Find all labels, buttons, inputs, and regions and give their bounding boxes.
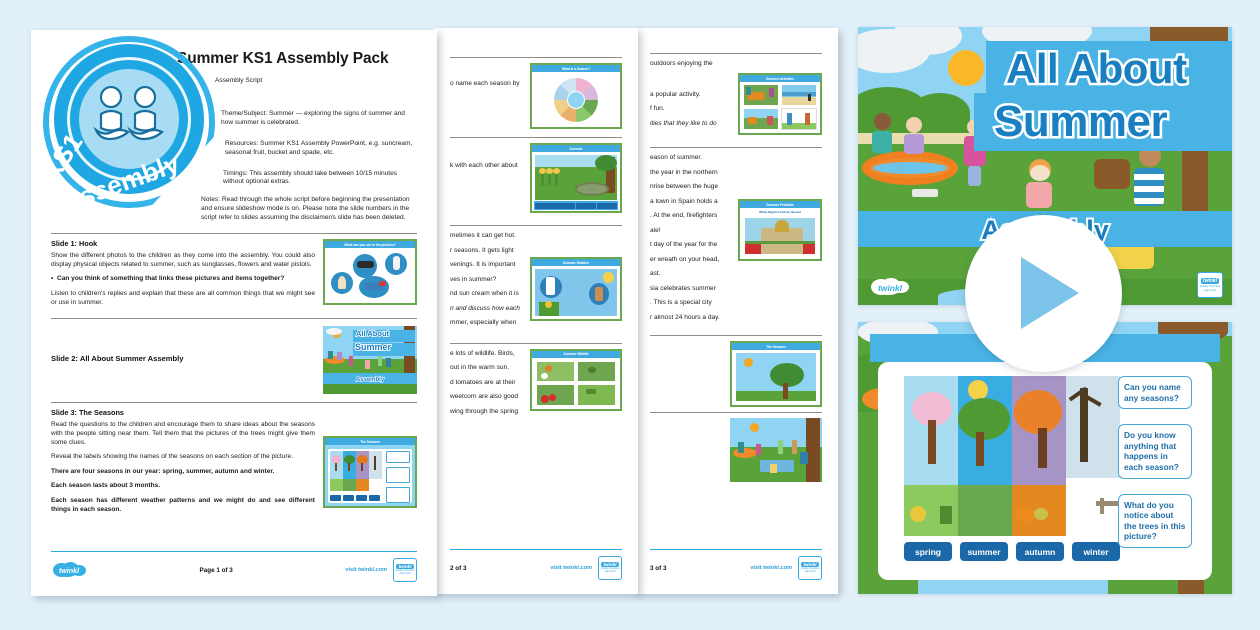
visit-link[interactable]: visit twinkl.com <box>750 565 792 571</box>
page1-footer: twinkl Page 1 of 3 visit twinkl.com twin… <box>51 551 417 582</box>
divider <box>450 57 622 58</box>
thumb-title-line2: Summer <box>355 342 391 352</box>
page2-section-summer: k with each other about Summer <box>450 143 622 213</box>
page2-section-wildlife: e lots of wildlife. Birds, out in the wa… <box>450 349 622 422</box>
text-fragment: ast. <box>650 269 730 278</box>
text-fragment: ities that they like to do <box>650 119 730 128</box>
slide-paragraph: Listen to children's replies and explain… <box>51 289 315 307</box>
text-fragment: r seasons. It gets light <box>450 246 522 255</box>
badge-label: KS1 Assembly <box>39 76 219 206</box>
text-fragment: outdoors enjoying the <box>650 59 730 68</box>
text-fragment: out in the warm sun. <box>450 363 522 372</box>
twinkl-logo-text: twinkl <box>869 278 911 297</box>
twinkl-logo[interactable]: twinkl <box>869 278 911 297</box>
page2-text-col2: k with each other about <box>450 143 522 176</box>
season-buttons-row: spring summer autumn winter <box>904 542 1120 561</box>
slide-heading: Slide 1: Hook <box>51 239 315 248</box>
text-fragment: t day of the year for the <box>650 240 730 249</box>
season-column-winter <box>1066 376 1120 536</box>
text-fragment: k with each other about <box>450 161 522 170</box>
slide-thumbnail-seasons[interactable]: The Seasons <box>323 436 417 508</box>
text-fragment: ale! <box>650 226 730 235</box>
thumbnail-caption: The Seasons <box>325 438 415 445</box>
sun-icon <box>948 50 984 86</box>
festival-label: White Nights Festival, Russia <box>743 210 817 214</box>
text-fragment: weetcorn are also good <box>450 392 522 401</box>
page-number: 2 of 3 <box>450 565 466 572</box>
text-fragment: n and discuss how each <box>450 304 522 313</box>
thumbnail-caption: What can you see in the pictures? <box>325 241 415 248</box>
slide-thumbnail-hook[interactable]: What can you see in the pictures? <box>323 239 417 305</box>
text-fragment: d tomatoes are at their <box>450 378 522 387</box>
divider <box>51 402 417 403</box>
season-button-summer[interactable]: summer <box>960 542 1008 561</box>
season-column-spring <box>904 376 958 536</box>
page1-slide-1: Slide 1: Hook Show the different photos … <box>51 239 417 312</box>
visit-link[interactable]: visit twinkl.com <box>550 565 592 571</box>
twinkl-logo[interactable]: twinkl <box>51 562 87 578</box>
season-button-winter[interactable]: winter <box>1072 542 1120 561</box>
slide2-text: Slide 2: All About Summer Assembly <box>51 354 315 366</box>
screenshot-stage: outdoors enjoying the a popular activity… <box>0 0 1260 630</box>
page2-text-col3: metimes it can get hot. r seasons. It ge… <box>450 231 522 333</box>
quality-badge: twinkl Quality Checked Approved <box>393 558 417 582</box>
question-list: Can you name any seasons? Do you know an… <box>1118 376 1192 548</box>
document-page-3[interactable]: outdoors enjoying the a popular activity… <box>634 28 838 594</box>
play-button[interactable] <box>965 215 1122 372</box>
slide-paragraph: There are four seasons in our year: spri… <box>51 467 315 476</box>
thumbnail-caption: Summer Festivals <box>740 201 820 208</box>
badge-text-ks1: KS1 <box>35 128 89 187</box>
divider <box>450 137 622 138</box>
page-number: Page 1 of 3 <box>200 567 233 574</box>
ks1-assembly-badge: KS1 Assembly <box>43 36 215 208</box>
thumbnail-caption: Summer Activities <box>740 75 820 82</box>
thumbnail-caption: What is a Season? <box>532 65 620 72</box>
page3-body2: eason of summer. the year in the norther… <box>650 153 730 322</box>
text-fragment: nd sun cream when it is <box>450 289 522 298</box>
text-fragment: mmer, especially when <box>450 318 522 327</box>
divider <box>650 335 822 336</box>
text-fragment: a town in Spain holds a <box>650 197 730 206</box>
bench <box>1094 159 1130 189</box>
slide-thumbnail-photo[interactable] <box>730 418 822 482</box>
page2-text-col4: e lots of wildlife. Birds, out in the wa… <box>450 349 522 422</box>
slide-paragraph: Each season has different weather patter… <box>51 496 315 514</box>
text-fragment: a popular activity. <box>650 90 730 99</box>
divider <box>450 343 622 344</box>
slide-thumbnail-title[interactable]: All About Summer Assembly <box>323 326 417 394</box>
text-fragment: f fun. <box>650 104 730 113</box>
slide-thumbnail-weather[interactable]: Summer Weather <box>530 257 622 321</box>
divider <box>650 147 822 148</box>
slide-thumbnail-activities[interactable]: Summer Activities <box>738 73 822 135</box>
page2-content: o name each season by What is a Season? <box>434 28 638 594</box>
text-fragment: ves in summer? <box>450 275 522 284</box>
page2-body: o name each season by <box>450 63 522 88</box>
text-fragment: nrise between the huge <box>650 182 730 191</box>
towel <box>912 189 938 197</box>
page3-section-activities: outdoors enjoying the a popular activity… <box>650 59 822 135</box>
page1-slide-3: Slide 3: The Seasons Read the questions … <box>51 408 417 519</box>
page3-section-festivals: eason of summer. the year in the norther… <box>650 153 822 327</box>
page2-section-what-is-season: o name each season by What is a Season? <box>450 63 622 129</box>
text-fragment: sia celebrates summer <box>650 284 730 293</box>
text-fragment: r almost 24 hours a day. <box>650 313 730 322</box>
season-column-autumn <box>1012 376 1066 536</box>
text-fragment: eason of summer. <box>650 153 730 162</box>
visit-link[interactable]: visit twinkl.com <box>345 567 387 573</box>
text-fragment: venings. It is important <box>450 260 522 269</box>
page2-body4: e lots of wildlife. Birds, out in the wa… <box>450 349 522 416</box>
slide-paragraph: Read the questions to the children and e… <box>51 420 315 447</box>
page2-body2: k with each other about <box>450 143 522 170</box>
slide-thumbnail-festivals[interactable]: Summer Festivals White Nights Festival, … <box>738 199 822 261</box>
question-card[interactable]: What do you notice about the trees in th… <box>1118 494 1192 548</box>
season-button-spring[interactable]: spring <box>904 542 952 561</box>
slide-paragraph: Reveal the labels showing the names of t… <box>51 452 315 461</box>
page3-section-photo <box>650 418 822 482</box>
question-card[interactable]: Can you name any seasons? <box>1118 376 1192 409</box>
slide-paragraph: Show the different photos to the childre… <box>51 251 315 269</box>
seasons-picture <box>904 376 1120 536</box>
badge-sub-text: Quality Checked Approved <box>599 568 621 574</box>
page1-slide-2: Slide 2: All About Summer Assembly All A… <box>51 324 417 396</box>
divider <box>51 318 417 319</box>
badge-sub-text: Quality Checked Approved <box>394 570 416 576</box>
play-triangle-icon <box>1021 257 1079 329</box>
child-figure <box>872 113 894 155</box>
badge-sub-text: Quality Checked Approved <box>799 568 821 574</box>
slide-heading: Slide 2: All About Summer Assembly <box>51 354 315 363</box>
child-figure <box>904 117 926 157</box>
divider <box>51 233 417 234</box>
text-fragment: . This is a special city <box>650 298 730 307</box>
child-figure <box>1134 145 1166 217</box>
text-fragment: e lots of wildlife. Birds, <box>450 349 522 358</box>
page3-body: outdoors enjoying the a popular activity… <box>650 59 730 128</box>
thumbnail-caption: The Seasons <box>732 343 820 350</box>
text-fragment: wing through the spring <box>450 407 522 416</box>
page3-footer: 3 of 3 visit twinkl.com twinkl Quality C… <box>650 549 822 580</box>
thumb-subtitle: Assembly <box>323 377 417 383</box>
quality-badge: twinkl Quality Checked Approved <box>798 556 822 580</box>
divider <box>450 225 622 226</box>
page2-footer: 2 of 3 visit twinkl.com twinkl Quality C… <box>450 549 622 580</box>
slide1-text: Slide 1: Hook Show the different photos … <box>51 239 315 312</box>
thumbnail-caption: Summer Weather <box>532 259 620 266</box>
text-fragment: . At the end, firefighters <box>650 211 730 220</box>
quality-badge: twinkl Quality Checked Approved <box>598 556 622 580</box>
season-column-summer <box>958 376 1012 536</box>
page2-text-col: o name each season by <box>450 63 522 94</box>
slide-bullet: Can you think of something that links th… <box>51 274 315 283</box>
slide-heading: Slide 3: The Seasons <box>51 408 315 417</box>
page3-section-seasons: The Seasons <box>650 341 822 407</box>
quality-badge: twinkl Quality Checked Approved <box>1197 272 1223 298</box>
page2-section-weather: metimes it can get hot. r seasons. It ge… <box>450 231 622 333</box>
thumbnail-caption: Summer Wildlife <box>532 351 620 358</box>
divider <box>650 412 822 413</box>
question-card[interactable]: Do you know anything that happens in eac… <box>1118 424 1192 478</box>
document-page-2[interactable]: o name each season by What is a Season? <box>434 28 638 594</box>
slide3-text: Slide 3: The Seasons Read the questions … <box>51 408 315 519</box>
page3-text-col2: eason of summer. the year in the norther… <box>650 153 730 327</box>
page-number: 3 of 3 <box>650 565 666 572</box>
text-fragment: er wreath on your head, <box>650 255 730 264</box>
seasons-card: spring summer autumn winter Can you name… <box>878 362 1212 580</box>
divider <box>650 53 822 54</box>
page3-content: outdoors enjoying the a popular activity… <box>634 28 838 594</box>
text-fragment: o name each season by <box>450 79 522 88</box>
thumb-title-line1: All About <box>356 329 389 338</box>
page2-body3: metimes it can get hot. r seasons. It ge… <box>450 231 522 327</box>
slide-title-line2: Summer <box>994 97 1167 147</box>
slide-title-line1: All About <box>1006 45 1187 93</box>
slide-body: Show the different photos to the childre… <box>51 251 315 307</box>
slide-thumbnail-summer[interactable]: Summer <box>530 143 622 213</box>
badge-sub-text: Quality Checked Approved <box>1198 285 1222 291</box>
slide-paragraph: Each season lasts about 3 months. <box>51 481 315 490</box>
slide-body: Read the questions to the children and e… <box>51 420 315 514</box>
slide-thumbnail-wildlife[interactable]: Summer Wildlife <box>530 349 622 411</box>
twinkl-logo-text: twinkl <box>51 562 87 578</box>
page3-text-col: outdoors enjoying the a popular activity… <box>650 59 730 133</box>
text-fragment: the year in the northern <box>650 168 730 177</box>
text-fragment: metimes it can get hot. <box>450 231 522 240</box>
season-button-autumn[interactable]: autumn <box>1016 542 1064 561</box>
slide-thumbnail-what-is-season[interactable]: What is a Season? <box>530 63 622 129</box>
slide-thumbnail-seasons[interactable]: The Seasons <box>730 341 822 407</box>
thumbnail-caption: Summer <box>532 145 620 152</box>
